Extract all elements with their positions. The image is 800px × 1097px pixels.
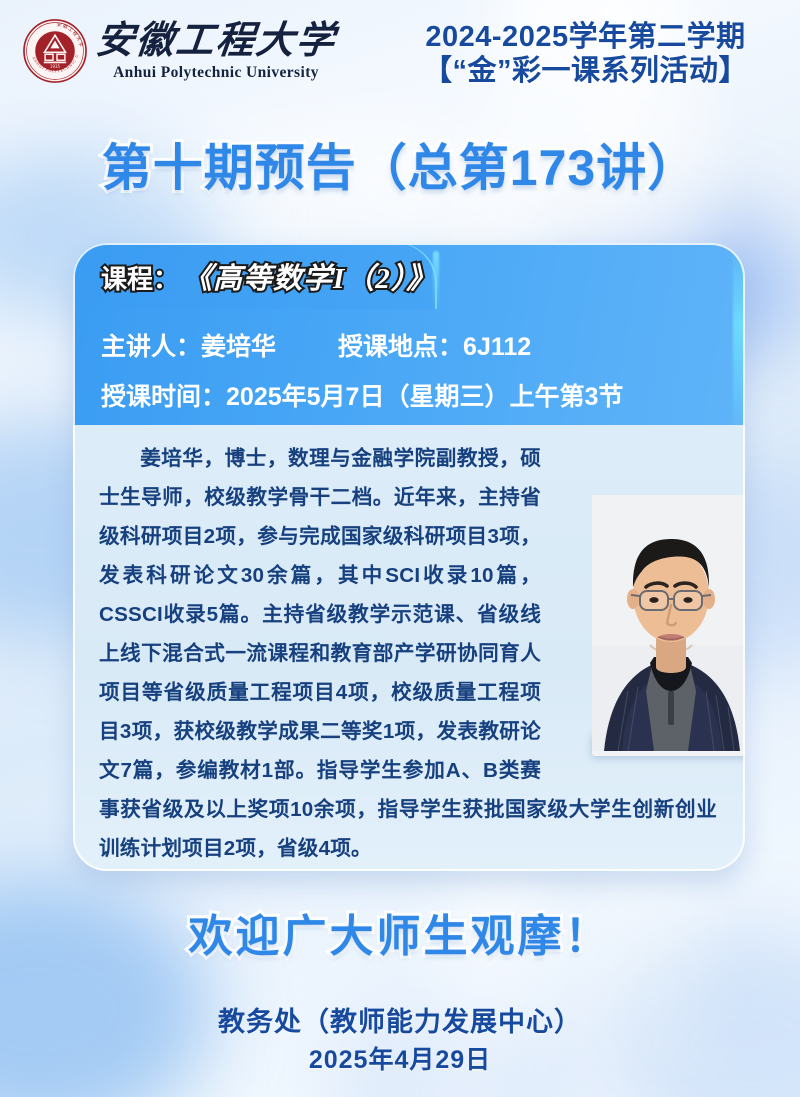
header-notch [435, 243, 745, 309]
course-name: 《高等数学I（2）》 [183, 255, 436, 297]
course-title-row: 课程： 《高等数学I（2）》 [101, 255, 436, 297]
term-line-2: 【“金”彩一课系列活动】 [423, 54, 748, 88]
course-label: 课程： [101, 259, 179, 296]
poster-header: 1935 安徽工程大学 ANHUI POLYTECHNIC UNIVERSITY… [0, 0, 800, 118]
location-label: 授课地点： [338, 327, 463, 363]
page-title: 第十期预告（总第173讲） [0, 128, 800, 200]
time-value: 2025年5月7日（星期三）上午第3节 [226, 377, 623, 413]
poster-root: 1935 安徽工程大学 ANHUI POLYTECHNIC UNIVERSITY… [0, 0, 800, 1097]
location-value: 6J112 [463, 333, 531, 362]
time-label: 授课时间： [101, 383, 226, 411]
time-row: 授课时间：2025年5月7日（星期三）上午第3节 [73, 377, 745, 413]
welcome-message: 欢迎广大师生观摩！ [0, 900, 800, 964]
issuer-name: 教务处（教师能力发展中心） [0, 1000, 800, 1039]
svg-text:1935: 1935 [50, 64, 61, 69]
speaker-photo [592, 733, 745, 756]
speaker-name: 姜培华 [201, 327, 276, 363]
speaker-label: 主讲人： [101, 333, 201, 361]
term-info: 2024-2025学年第二学期 【“金”彩一课系列活动】 [423, 20, 748, 88]
lecture-card-body: 姜培华，博士，数理与金融学院副教授，硕士生导师，校级教学骨干二档。近年来，主持省… [73, 425, 745, 871]
speaker-location-row: 主讲人：姜培华授课地点：6J112 [73, 327, 745, 363]
university-name-cn: 安徽工程大学 [94, 22, 338, 60]
university-seal-icon: 1935 安徽工程大学 ANHUI POLYTECHNIC UNIVERSITY [22, 18, 88, 84]
lecture-card-header: 课程： 《高等数学I（2）》 主讲人：姜培华授课地点：6J112 授课时间：20… [73, 243, 745, 425]
university-name-block: 安徽工程大学 Anhui Polytechnic University [96, 22, 336, 81]
speaker-bio-wrapper: 姜培华，博士，数理与金融学院副教授，硕士生导师，校级教学骨干二档。近年来，主持省… [99, 439, 717, 868]
university-brand: 1935 安徽工程大学 ANHUI POLYTECHNIC UNIVERSITY… [22, 18, 336, 84]
term-line-1: 2024-2025学年第二学期 [423, 20, 748, 54]
university-name-en: Anhui Polytechnic University [113, 65, 319, 81]
issue-date: 2025年4月29日 [0, 1040, 800, 1076]
lecture-card: 课程： 《高等数学I（2）》 主讲人：姜培华授课地点：6J112 授课时间：20… [73, 243, 745, 871]
speaker-photo-float [551, 495, 717, 757]
